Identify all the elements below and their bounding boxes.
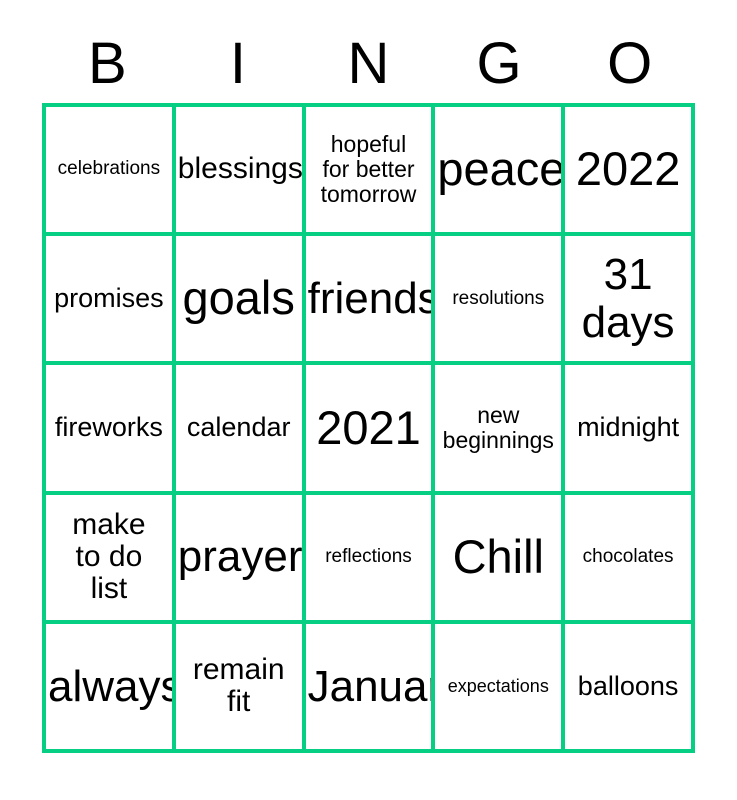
header-letter-n: N — [303, 26, 434, 101]
bingo-cell-r2c1[interactable]: promises — [46, 236, 172, 361]
bingo-grid: celebrations blessings hopeful for bette… — [42, 103, 695, 753]
bingo-cell-r3c5[interactable]: midnight — [565, 365, 691, 490]
bingo-cell-r2c2[interactable]: goals — [176, 236, 302, 361]
bingo-cell-r1c4[interactable]: peace — [435, 107, 561, 232]
bingo-cell-r1c5[interactable]: 2022 — [565, 107, 691, 232]
bingo-cell-label: prayers — [178, 533, 300, 581]
bingo-cell-r5c3[interactable]: January — [306, 624, 432, 749]
bingo-cell-label: promises — [48, 284, 170, 313]
bingo-cell-label: new beginnings — [437, 403, 559, 453]
bingo-cell-label: midnight — [567, 413, 689, 442]
bingo-cell-r3c3[interactable]: 2021 — [306, 365, 432, 490]
bingo-cell-label: blessings — [178, 153, 300, 185]
bingo-cell-label: January — [308, 663, 430, 711]
bingo-cell-r4c4[interactable]: Chill — [435, 495, 561, 620]
bingo-cell-label: fireworks — [48, 413, 170, 442]
bingo-cell-label: 31 days — [567, 251, 689, 346]
bingo-cell-r4c1[interactable]: make to do list — [46, 495, 172, 620]
bingo-cell-r5c5[interactable]: balloons — [565, 624, 691, 749]
header-letter-g: G — [434, 26, 565, 101]
bingo-cell-label: reflections — [308, 547, 430, 568]
bingo-cell-r3c4[interactable]: new beginnings — [435, 365, 561, 490]
bingo-cell-label: chocolates — [567, 547, 689, 568]
bingo-cell-label: expectations — [437, 677, 559, 696]
bingo-cell-r2c4[interactable]: resolutions — [435, 236, 561, 361]
bingo-cell-label: balloons — [567, 672, 689, 701]
bingo-cell-label: always — [48, 663, 170, 711]
bingo-cell-r1c2[interactable]: blessings — [176, 107, 302, 232]
bingo-cell-label: friends — [308, 275, 430, 323]
bingo-cell-r2c5[interactable]: 31 days — [565, 236, 691, 361]
bingo-cell-r3c2[interactable]: calendar — [176, 365, 302, 490]
bingo-header: B I N G O — [42, 26, 695, 101]
bingo-cell-label: calendar — [178, 413, 300, 442]
bingo-cell-label: hopeful for better tomorrow — [308, 132, 430, 206]
header-letter-o: O — [564, 26, 695, 101]
bingo-cell-r1c3[interactable]: hopeful for better tomorrow — [306, 107, 432, 232]
bingo-cell-label: goals — [178, 273, 300, 324]
bingo-cell-label: 2021 — [308, 403, 430, 454]
header-letter-i: I — [173, 26, 304, 101]
bingo-cell-r4c2[interactable]: prayers — [176, 495, 302, 620]
bingo-cell-label: resolutions — [437, 289, 559, 310]
header-letter-b: B — [42, 26, 173, 101]
bingo-cell-label: peace — [437, 144, 559, 195]
bingo-cell-label: 2022 — [567, 144, 689, 195]
bingo-cell-label: celebrations — [48, 159, 170, 180]
bingo-cell-r1c1[interactable]: celebrations — [46, 107, 172, 232]
bingo-cell-label: make to do list — [48, 509, 170, 606]
bingo-cell-label: remain fit — [178, 654, 300, 719]
bingo-cell-r5c4[interactable]: expectations — [435, 624, 561, 749]
bingo-cell-r4c3[interactable]: reflections — [306, 495, 432, 620]
bingo-card: B I N G O celebrations blessings hopeful… — [0, 0, 737, 800]
bingo-cell-r2c3[interactable]: friends — [306, 236, 432, 361]
bingo-cell-r5c1[interactable]: always — [46, 624, 172, 749]
bingo-cell-r5c2[interactable]: remain fit — [176, 624, 302, 749]
bingo-cell-r4c5[interactable]: chocolates — [565, 495, 691, 620]
bingo-cell-r3c1[interactable]: fireworks — [46, 365, 172, 490]
bingo-cell-label: Chill — [437, 532, 559, 583]
